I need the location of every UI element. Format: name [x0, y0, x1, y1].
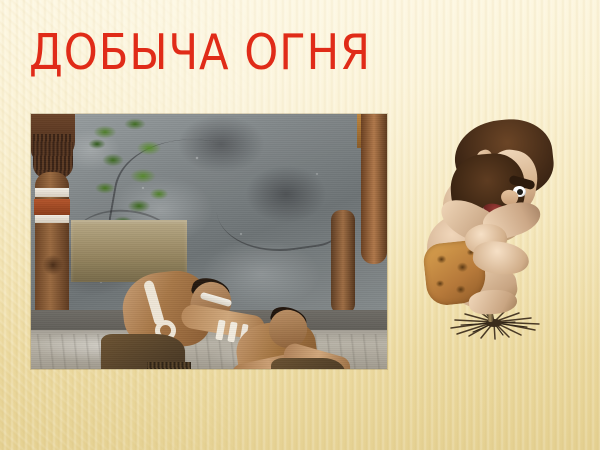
kneeling-man-back-loincloth	[271, 358, 345, 369]
leg-band-white-upper	[35, 188, 69, 197]
standing-figure-right-leg-second	[331, 210, 355, 314]
green-foliage-bush	[83, 114, 169, 232]
slide-title: ДОБЫЧА ОГНЯ	[29, 27, 371, 79]
standing-figure-left-knee	[43, 254, 63, 276]
kneeling-man-front-fringe	[147, 362, 191, 369]
fire-making-photograph	[31, 114, 387, 369]
presentation-slide: ДОБЫЧА ОГНЯ	[0, 0, 600, 450]
standing-figure-right-leg	[361, 114, 387, 264]
leg-band-red	[34, 199, 70, 215]
cartoon-caveman-illustration	[425, 120, 585, 355]
leg-band-white-lower	[35, 215, 69, 223]
